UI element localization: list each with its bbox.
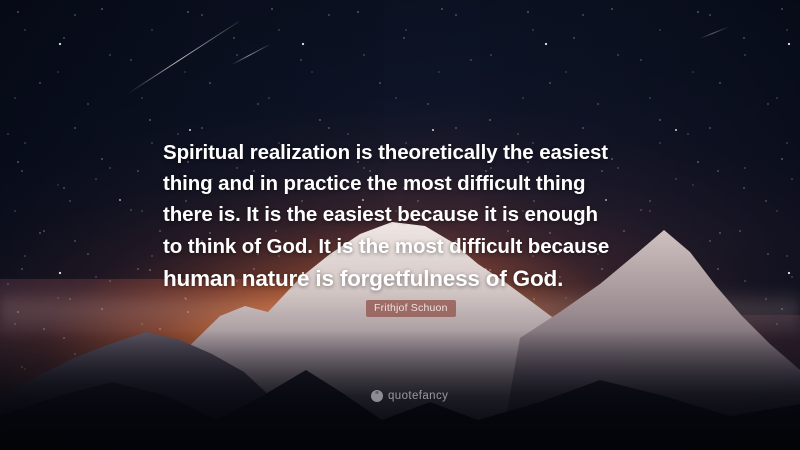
quote-text-block: Spiritual realization is theoretically t… [163,137,663,295]
quote-poster: Spiritual realization is theoretically t… [0,0,800,450]
quote-line-2: thing and in practice the most difficult… [163,168,663,199]
quote-line-1: Spiritual realization is theoretically t… [163,137,663,168]
quote-line-3: there is. It is the easiest because it i… [163,199,663,230]
quote-mark-glyph: “ [375,391,379,399]
quote-mark-logo-icon: “ [371,390,383,402]
author-attribution-badge: Frithjof Schuon [366,300,456,317]
quotefancy-watermark[interactable]: “ quotefancy [371,390,448,402]
watermark-label: quotefancy [388,390,448,402]
quote-line-5: human nature is forgetfulness of God. [163,262,663,295]
quote-line-4: to think of God. It is the most difficul… [163,231,663,262]
